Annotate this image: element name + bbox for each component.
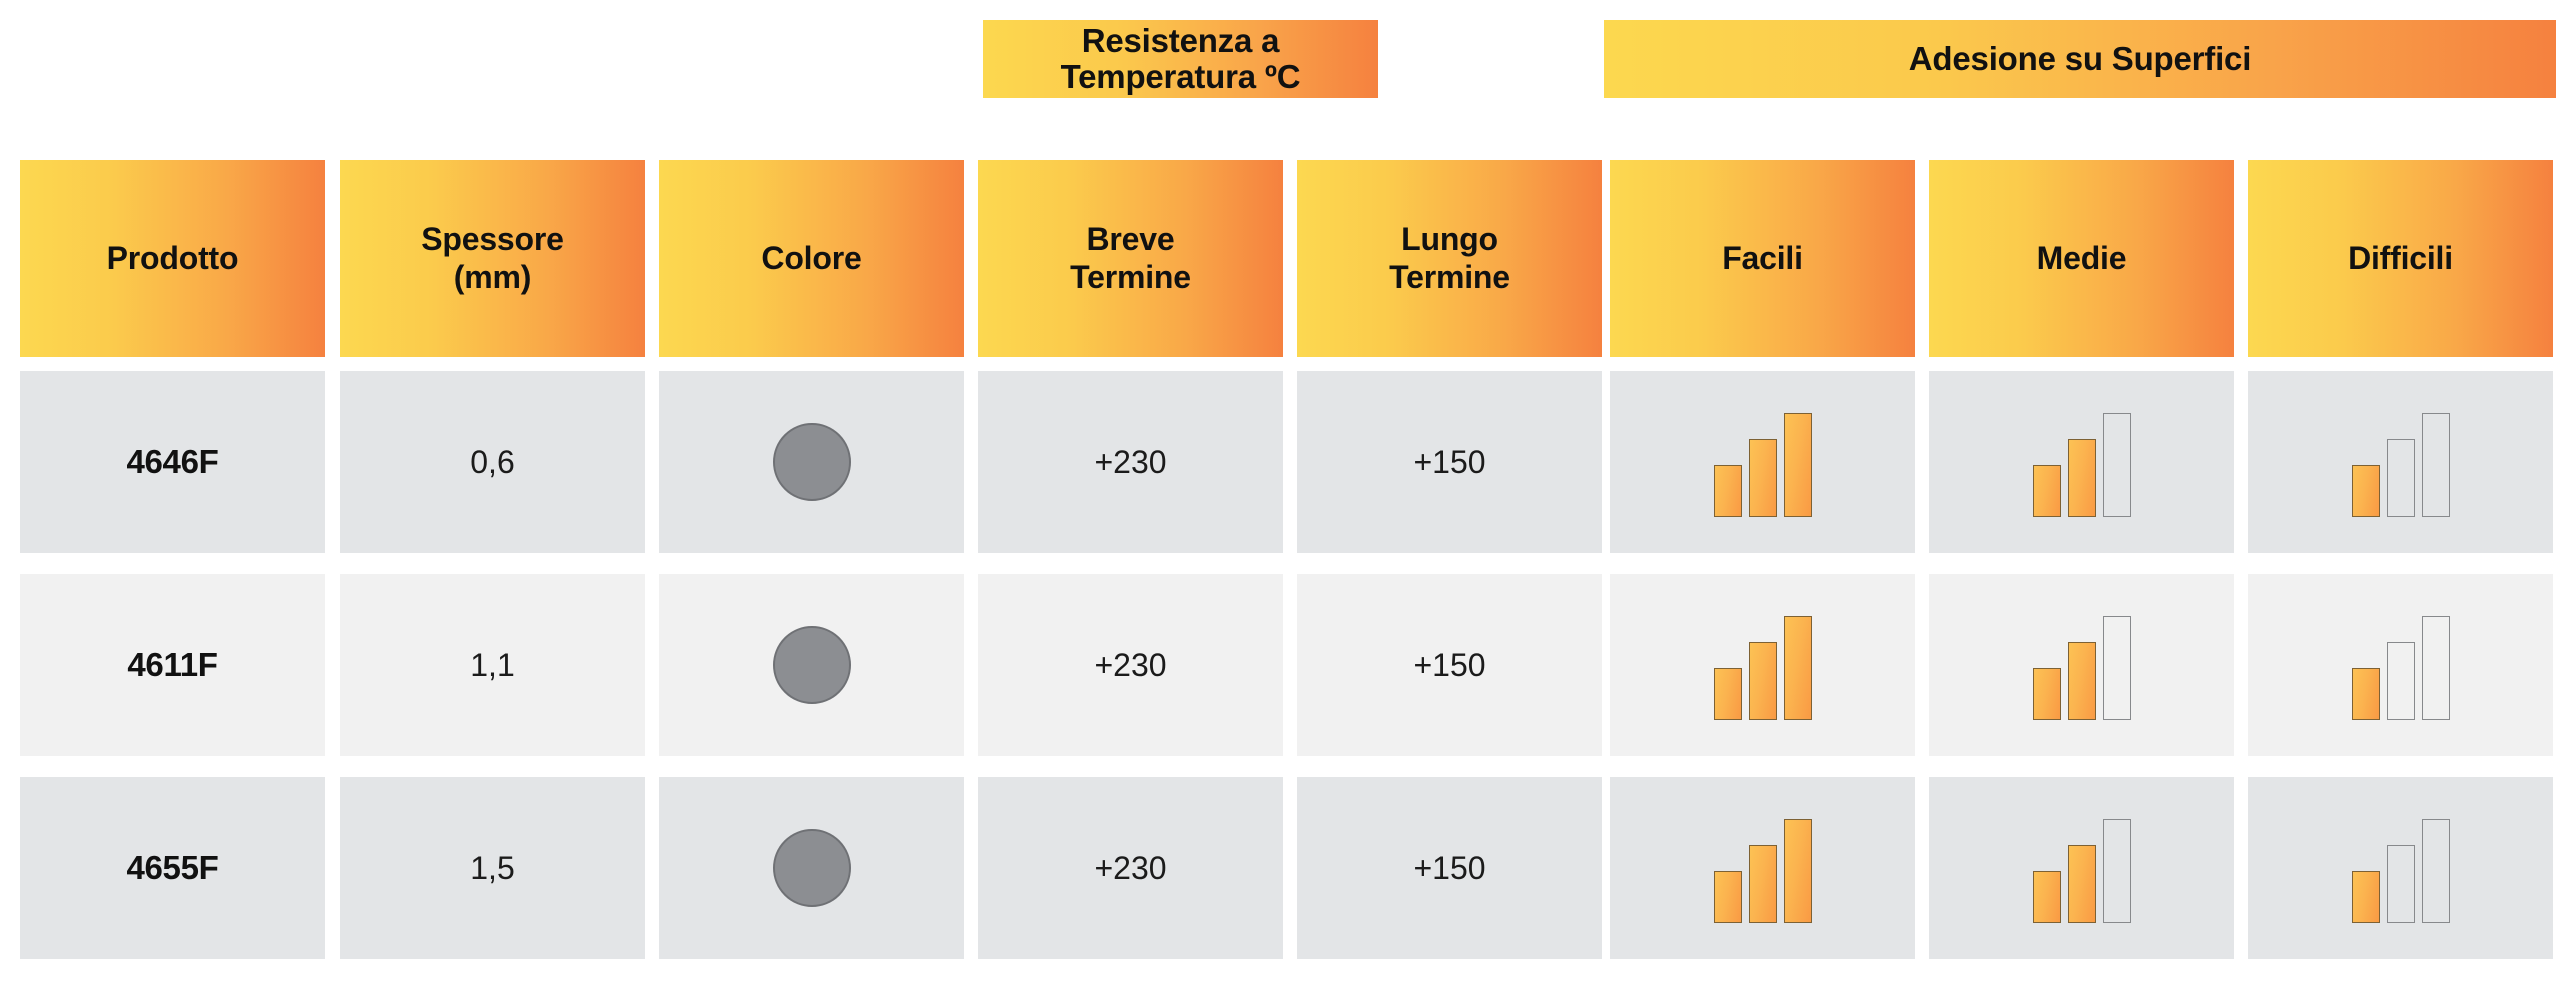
bar-chart-medie xyxy=(2033,813,2131,923)
cell-lungo-termine: +150 xyxy=(1413,444,1485,481)
column-header-lungo-termine-label-line1: Lungo xyxy=(1401,221,1498,259)
table-row xyxy=(1929,574,2234,756)
cell-prodotto: 4611F xyxy=(127,646,217,684)
column-header-colore: Colore xyxy=(659,160,964,357)
table-row xyxy=(659,574,964,756)
bar-chart-difficili xyxy=(2352,407,2450,517)
cell-spessore: 0,6 xyxy=(470,444,514,481)
bar-chart-facili xyxy=(1714,407,1812,517)
bar-chart-facili xyxy=(1714,610,1812,720)
bar-1 xyxy=(1714,871,1742,923)
bar-1 xyxy=(1714,465,1742,517)
bar-2 xyxy=(1749,642,1777,720)
bar-2 xyxy=(2387,439,2415,517)
table-row: +230 xyxy=(978,777,1283,959)
bar-3 xyxy=(2103,413,2131,517)
bar-1 xyxy=(2033,465,2061,517)
cell-lungo-termine: +150 xyxy=(1413,850,1485,887)
table-row xyxy=(2248,574,2553,756)
bar-chart-difficili xyxy=(2352,610,2450,720)
bar-2 xyxy=(2068,439,2096,517)
column-header-medie: Medie xyxy=(1929,160,2234,357)
bar-3 xyxy=(2422,616,2450,720)
bar-1 xyxy=(2352,668,2380,720)
bar-chart-facili xyxy=(1714,813,1812,923)
bar-1 xyxy=(2352,871,2380,923)
bar-3 xyxy=(1784,819,1812,923)
bar-2 xyxy=(1749,845,1777,923)
group-header-temperatura-label: Resistenza a Temperatura ºC xyxy=(983,23,1378,96)
cell-spessore: 1,1 xyxy=(470,647,514,684)
bar-2 xyxy=(2068,845,2096,923)
colore-swatch-icon xyxy=(773,626,851,704)
table-row: +150 xyxy=(1297,574,1602,756)
column-header-spessore-label-line1: Spessore xyxy=(421,221,563,259)
group-header-adesione: Adesione su Superfici xyxy=(1604,20,2556,98)
table-row: +230 xyxy=(978,371,1283,553)
bar-1 xyxy=(1714,668,1742,720)
column-header-lungo-termine-label-line2: Termine xyxy=(1389,259,1510,297)
table-row xyxy=(1610,574,1915,756)
column-header-breve-termine: Breve Termine xyxy=(978,160,1283,357)
table-row: 0,6 xyxy=(340,371,645,553)
bar-3 xyxy=(2422,819,2450,923)
cell-prodotto: 4646F xyxy=(126,443,218,481)
table-row: +150 xyxy=(1297,371,1602,553)
column-header-spessore-label-line2: (mm) xyxy=(454,259,531,297)
bar-3 xyxy=(2422,413,2450,517)
bar-2 xyxy=(1749,439,1777,517)
colore-swatch-icon xyxy=(773,829,851,907)
bar-1 xyxy=(2033,668,2061,720)
table-row: +230 xyxy=(978,574,1283,756)
cell-spessore: 1,5 xyxy=(470,850,514,887)
group-header-adesione-label: Adesione su Superfici xyxy=(1909,41,2251,77)
column-header-lungo-termine: Lungo Termine xyxy=(1297,160,1602,357)
table-row: 1,5 xyxy=(340,777,645,959)
table-row xyxy=(659,371,964,553)
colore-swatch-icon xyxy=(773,423,851,501)
group-header-temperatura: Resistenza a Temperatura ºC xyxy=(983,20,1378,98)
table-row xyxy=(1929,777,2234,959)
cell-prodotto: 4655F xyxy=(126,849,218,887)
table-row xyxy=(659,777,964,959)
bar-2 xyxy=(2387,642,2415,720)
column-header-breve-termine-label-line2: Termine xyxy=(1070,259,1191,297)
column-header-colore-label: Colore xyxy=(761,240,861,278)
column-header-prodotto: Prodotto xyxy=(20,160,325,357)
table-row: 4646F xyxy=(20,371,325,553)
column-header-breve-termine-label-line1: Breve xyxy=(1087,221,1175,259)
bar-1 xyxy=(2033,871,2061,923)
bar-2 xyxy=(2387,845,2415,923)
bar-chart-medie xyxy=(2033,407,2131,517)
table-row: +150 xyxy=(1297,777,1602,959)
bar-chart-medie xyxy=(2033,610,2131,720)
column-header-facili-label: Facili xyxy=(1722,240,1803,278)
table-row: 4611F xyxy=(20,574,325,756)
bar-3 xyxy=(1784,616,1812,720)
column-header-prodotto-label: Prodotto xyxy=(107,240,239,278)
bar-2 xyxy=(2068,642,2096,720)
bar-chart-difficili xyxy=(2352,813,2450,923)
table-row xyxy=(1610,777,1915,959)
cell-breve-termine: +230 xyxy=(1094,850,1166,887)
cell-lungo-termine: +150 xyxy=(1413,647,1485,684)
column-header-spessore: Spessore (mm) xyxy=(340,160,645,357)
column-header-difficili: Difficili xyxy=(2248,160,2553,357)
cell-breve-termine: +230 xyxy=(1094,444,1166,481)
cell-breve-termine: +230 xyxy=(1094,647,1166,684)
table-row xyxy=(2248,777,2553,959)
column-header-medie-label: Medie xyxy=(2037,240,2127,278)
table-row: 1,1 xyxy=(340,574,645,756)
table-row xyxy=(2248,371,2553,553)
bar-3 xyxy=(1784,413,1812,517)
bar-3 xyxy=(2103,819,2131,923)
bar-3 xyxy=(2103,616,2131,720)
column-header-difficili-label: Difficili xyxy=(2348,240,2453,278)
table-row xyxy=(1929,371,2234,553)
table-row: 4655F xyxy=(20,777,325,959)
table-row xyxy=(1610,371,1915,553)
column-header-facili: Facili xyxy=(1610,160,1915,357)
bar-1 xyxy=(2352,465,2380,517)
comparison-table: Resistenza a Temperatura ºC Adesione su … xyxy=(0,0,2560,995)
